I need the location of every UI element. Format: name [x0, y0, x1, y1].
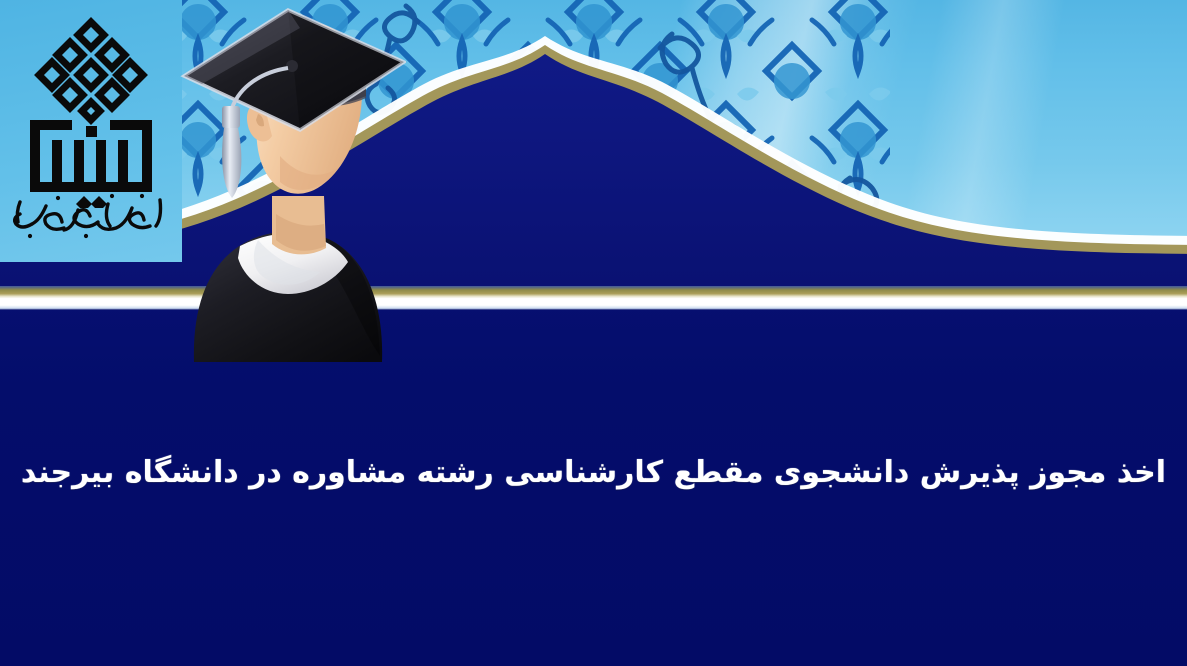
university-name-calligraphy [0, 186, 182, 244]
graduate-student-illustration [176, 0, 406, 370]
university-logo-panel [0, 0, 182, 262]
university-logo-icon [0, 8, 182, 208]
announcement-banner: اخذ مجوز پذیرش دانشجوی مقطع کارشناسی رشت… [0, 0, 1187, 666]
page-title: اخذ مجوز پذیرش دانشجوی مقطع کارشناسی رشت… [0, 452, 1187, 494]
